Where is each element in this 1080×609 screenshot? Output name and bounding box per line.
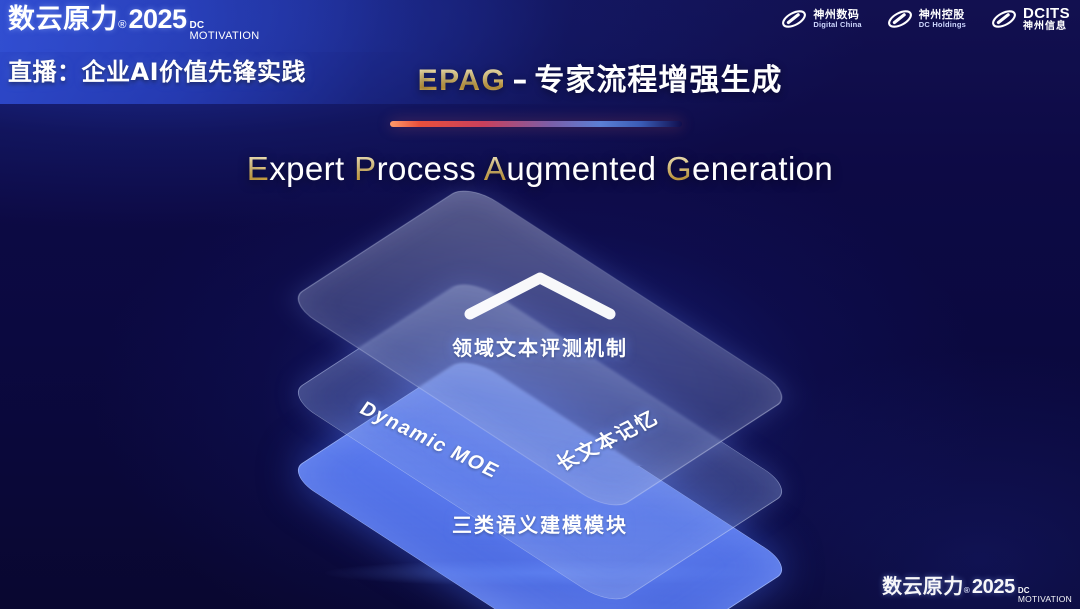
partner-logo-digital-china: 神州数码 Digital China xyxy=(780,8,861,30)
partner-name-cn: 神州信息 xyxy=(1023,22,1070,33)
title-chinese: 专家流程增强生成 xyxy=(534,63,782,98)
swoosh-logo-icon xyxy=(990,8,1018,30)
subtitle-part: xpert xyxy=(269,150,354,187)
subtitle-part: eneration xyxy=(692,150,833,187)
swoosh-logo-icon xyxy=(886,8,914,30)
diagram-layer-bottom xyxy=(286,355,794,609)
partner-name-en: DC Holdings xyxy=(919,21,966,29)
diagram-label-long-text-memory: 长文本记忆 xyxy=(549,402,664,476)
page-subtitle: Expert Process Augmented Generation xyxy=(0,150,1080,188)
slide-canvas: 数云原力®2025 DC MOTIVATION 直播：企业AI价值先锋实践 神州… xyxy=(0,0,1080,609)
swoosh-logo-icon xyxy=(780,8,808,30)
subtitle-part: ugmented xyxy=(506,150,666,187)
registered-mark-icon: ® xyxy=(118,19,126,31)
subtitle-part: rocess xyxy=(377,150,484,187)
partner-logo-dcits: DCITS 神州信息 xyxy=(990,6,1070,32)
partner-name-en: DCITS xyxy=(1023,6,1070,22)
brand-logo-watermark: 数云原力®2025 DC MOTIVATION xyxy=(882,575,1072,604)
diagram-label-top: 领域文本评测机制 xyxy=(452,332,628,361)
brand-logo-chinese: 数云原力 xyxy=(8,5,118,35)
registered-mark-icon: ® xyxy=(964,585,970,595)
partner-logo-dc-holdings: 神州控股 DC Holdings xyxy=(886,8,966,30)
brand-logo-dc-motivation: DC MOTIVATION xyxy=(189,21,259,42)
partner-text: 神州数码 Digital China xyxy=(813,9,861,28)
partner-logo-group: 神州数码 Digital China 神州控股 DC Holdings DCIT… xyxy=(780,6,1070,32)
layer-glow xyxy=(325,560,755,586)
brand-logo-chinese: 数云原力 xyxy=(882,575,964,597)
diagram-layer-middle xyxy=(286,277,794,607)
brand-logo-motivation: MOTIVATION xyxy=(189,31,259,42)
title-acronym: EPAG xyxy=(418,64,507,97)
subtitle-part: G xyxy=(666,150,692,187)
page-title: EPAG–专家流程增强生成 xyxy=(0,55,1080,99)
brand-logo-year: 2025 xyxy=(129,4,187,34)
brand-logo-dc-motivation: DC MOTIVATION xyxy=(1018,587,1072,604)
subtitle-part: E xyxy=(247,150,269,187)
title-divider xyxy=(390,121,682,127)
partner-name-en: Digital China xyxy=(813,21,861,29)
partner-text: DCITS 神州信息 xyxy=(1023,6,1070,32)
diagram-label-dynamic-moe: Dynamic MOE xyxy=(355,398,504,483)
brand-logo-motivation: MOTIVATION xyxy=(1018,595,1072,604)
chevron-up-icon xyxy=(462,268,618,324)
brand-logo-top: 数云原力®2025 DC MOTIVATION xyxy=(8,4,260,42)
brand-logo-year: 2025 xyxy=(972,576,1015,598)
subtitle-part: P xyxy=(354,150,376,187)
subtitle-part: A xyxy=(484,150,506,187)
title-dash: – xyxy=(512,63,528,98)
partner-text: 神州控股 DC Holdings xyxy=(919,9,966,28)
diagram-label-bottom: 三类语义建模模块 xyxy=(452,509,628,538)
